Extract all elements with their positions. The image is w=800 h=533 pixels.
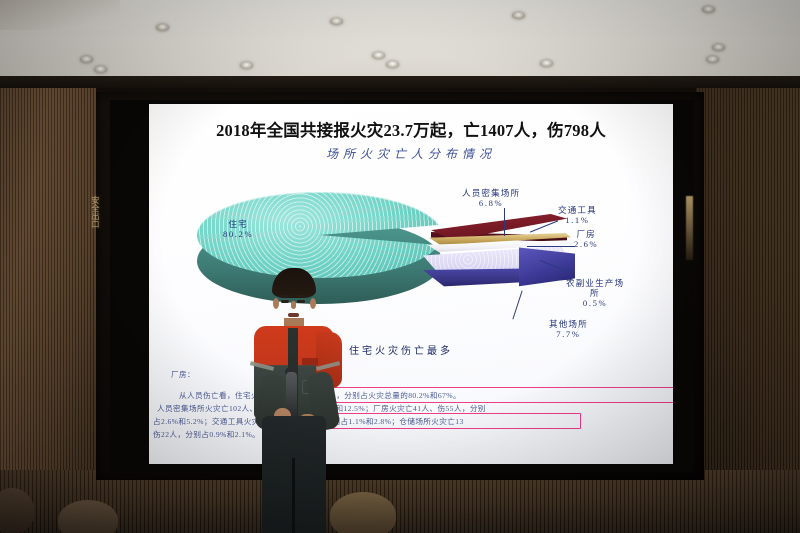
downlight xyxy=(372,52,385,59)
downlight xyxy=(330,18,343,25)
pie-label-agriculture-name2: 所 xyxy=(566,288,624,298)
wall-panel-left xyxy=(0,88,96,488)
pie-label-other-name: 其他场所 xyxy=(549,319,588,329)
pie-chart xyxy=(149,170,673,350)
slide-title: 2018年全国共接报火灾23.7万起，亡1407人，伤798人 xyxy=(159,117,663,141)
speaker-brow-right xyxy=(297,295,307,297)
downlight xyxy=(156,24,169,31)
downlight xyxy=(712,44,725,51)
downlight xyxy=(512,12,525,19)
pie-label-factory-value: 2.6% xyxy=(574,239,598,249)
speaker-brow-left xyxy=(281,295,291,297)
presentation-photo: 安全出口 2018年全国共接报火灾23.7万起，亡1407人，伤798人 场所火… xyxy=(0,0,800,533)
pie-label-other: 其他场所 7.7% xyxy=(549,319,588,339)
audience-head xyxy=(58,500,118,533)
downlight xyxy=(94,66,107,73)
pie-label-transport-name: 交通工具 xyxy=(558,205,597,215)
downlight xyxy=(386,61,399,68)
highlight-box-1 xyxy=(304,387,673,403)
downlight xyxy=(80,56,93,63)
ceiling xyxy=(0,0,800,78)
pie-label-crowded-name: 人员密集场所 xyxy=(462,188,520,198)
speaker-mouth xyxy=(288,313,299,317)
downlight xyxy=(540,60,553,67)
speaker-ear-left xyxy=(273,298,279,309)
pie-label-crowded: 人员密集场所 6.8% xyxy=(462,188,520,208)
ceiling-edge xyxy=(0,0,120,30)
presentation-slide: 2018年全国共接报火灾23.7万起，亡1407人，伤798人 场所火灾亡人分布… xyxy=(149,104,673,464)
leader-line-factory xyxy=(527,246,575,247)
wall-panel-right xyxy=(690,88,800,488)
pie-label-transport-value: 1.1% xyxy=(558,215,597,225)
slide-subtitle: 场所火灾亡人分布情况 xyxy=(159,145,663,162)
pie-label-transport: 交通工具 1.1% xyxy=(558,205,597,225)
speaker-leg-gap xyxy=(292,458,295,533)
pie-label-factory-name: 厂房 xyxy=(576,229,595,239)
pie-label-residential: 住宅 80.2% xyxy=(223,219,253,239)
pie-label-agriculture: 农副业生产场 所 0.5% xyxy=(566,278,624,308)
pie-label-agriculture-value: 0.5% xyxy=(566,298,624,308)
pie-label-agriculture-name: 农副业生产场 xyxy=(566,278,624,288)
audience-head xyxy=(330,492,396,533)
speaker-ear-right xyxy=(310,298,316,309)
pie-label-other-value: 7.7% xyxy=(549,329,588,339)
frame-light-reflection xyxy=(686,196,693,260)
downlight xyxy=(702,6,715,13)
speaker-eye-right xyxy=(297,300,305,303)
factory-note: 厂房： xyxy=(171,370,195,379)
pie-label-residential-value: 80.2% xyxy=(223,229,253,239)
pie-label-factory: 厂房 2.6% xyxy=(574,229,598,249)
downlight xyxy=(706,56,719,63)
pie-label-crowded-value: 6.8% xyxy=(462,198,520,208)
uniform-badge xyxy=(302,358,318,365)
exit-sign: 安全出口 xyxy=(86,196,100,258)
speaker-eye-left xyxy=(281,300,289,303)
downlight xyxy=(240,62,253,69)
section-heading: 住宅火灾伤亡最多 xyxy=(349,342,453,357)
speaker xyxy=(236,268,352,533)
speaker-nose xyxy=(291,301,296,309)
leader-line-crowded xyxy=(504,208,505,236)
pie-label-residential-name: 住宅 xyxy=(228,219,247,229)
